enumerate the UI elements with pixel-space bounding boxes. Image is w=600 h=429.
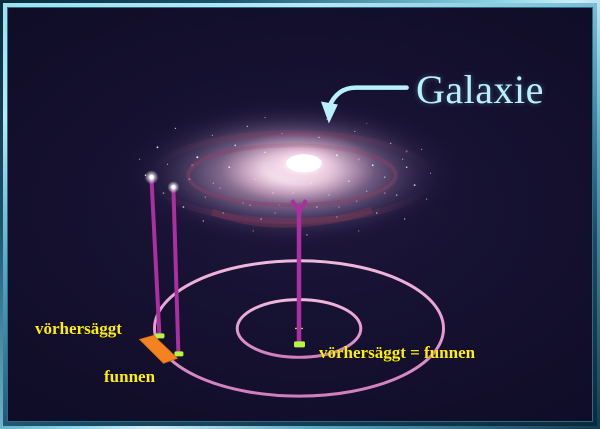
star-source-predicted	[145, 170, 159, 184]
marker-predicted	[155, 333, 164, 338]
predicted-label-left: vörhersäggt	[35, 320, 122, 337]
figure-canvas: Galaxie vörhersäggt funnen vörhersäggt =…	[7, 7, 593, 422]
predicted-equals-found-label: vörhersäggt = funnen	[319, 344, 475, 361]
galaxy-image	[113, 95, 472, 250]
found-label-left: funnen	[104, 368, 155, 385]
orange-offset-marker-icon	[140, 335, 178, 363]
marker-match	[294, 341, 305, 347]
figure-root: Galaxie vörhersäggt funnen vörhersäggt =…	[0, 0, 600, 429]
marker-found	[174, 351, 183, 356]
star-source-found	[167, 181, 179, 193]
galaxy-callout-label: Galaxie	[416, 70, 544, 110]
